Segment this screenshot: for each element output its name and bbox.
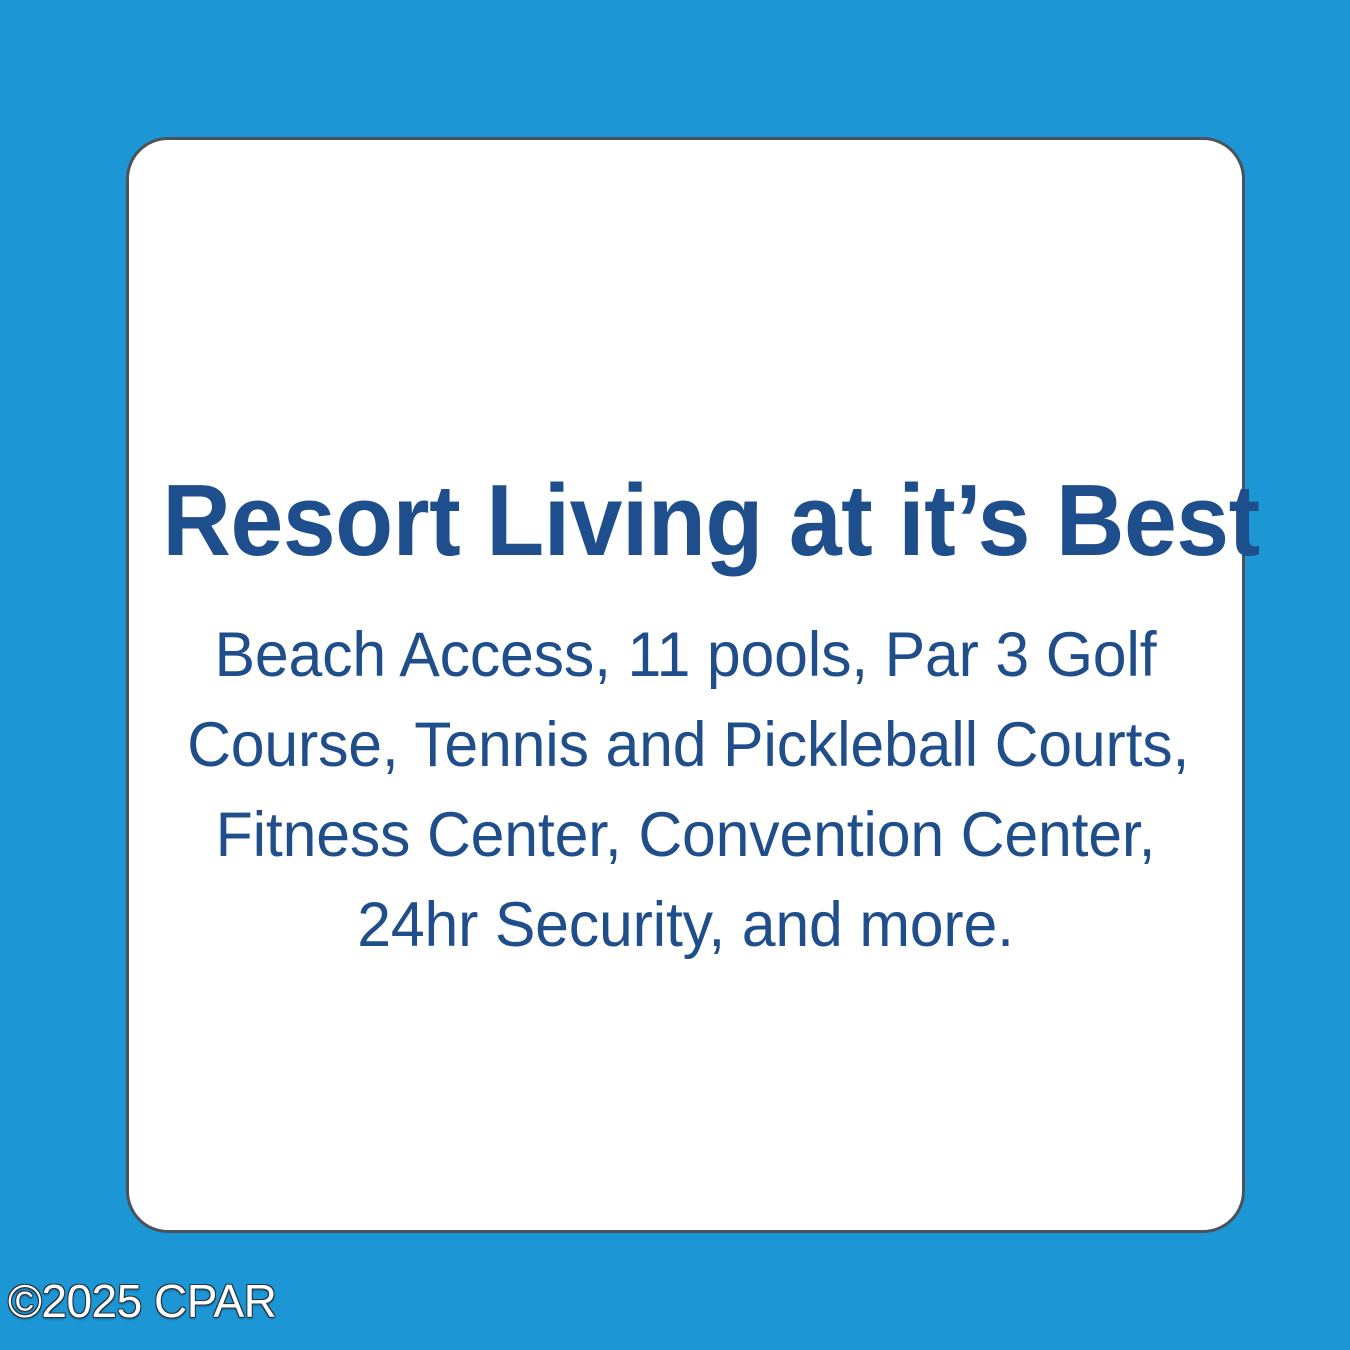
marketing-slide: Resort Living at it’s Best Beach Access,…	[0, 0, 1350, 1350]
description-line: 24hr Security, and more.	[187, 880, 1184, 970]
amenities-description: Beach Access, 11 pools, Par 3 Golf Cours…	[169, 610, 1202, 970]
description-line: Course, Tennis and Pickleball Courts,	[187, 700, 1184, 790]
description-line: Fitness Center, Convention Center,	[187, 790, 1184, 880]
copyright-notice: ©2025 CPAR	[8, 1276, 276, 1326]
page-title: Resort Living at it’s Best	[162, 469, 1208, 573]
content-card: Resort Living at it’s Best Beach Access,…	[126, 137, 1245, 1233]
description-line: Beach Access, 11 pools, Par 3 Golf	[187, 610, 1184, 700]
